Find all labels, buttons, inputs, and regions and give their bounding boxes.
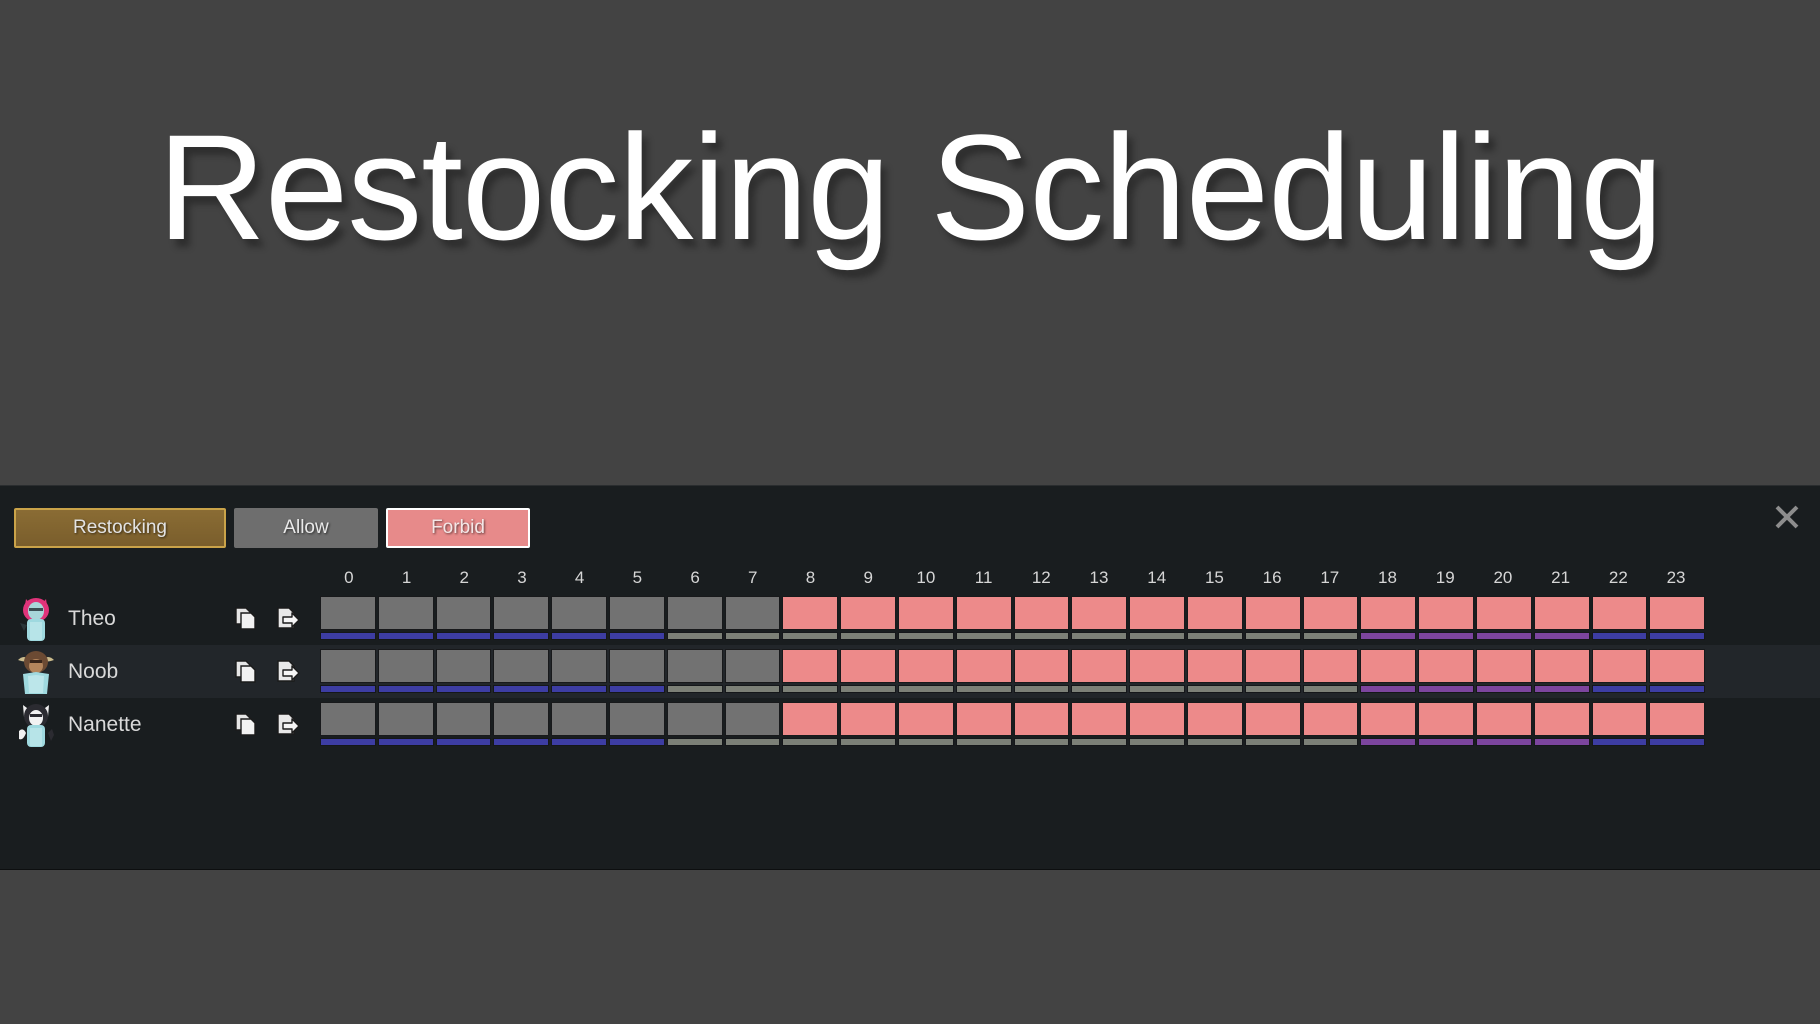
hour-cell-12[interactable]	[1014, 596, 1070, 642]
hour-cell-16[interactable]	[1245, 702, 1301, 748]
restocking-state-forbid[interactable]	[1129, 596, 1185, 630]
hour-cell-8[interactable]	[782, 649, 838, 695]
hour-label-1: 1	[378, 564, 436, 592]
assignment-bar-work	[667, 685, 723, 693]
mode-button-allow-label: Allow	[283, 517, 328, 539]
hour-cell-13[interactable]	[1071, 702, 1127, 748]
hour-label-19: 19	[1416, 564, 1474, 592]
hour-label-11: 11	[955, 564, 1013, 592]
assignment-bar-sleep	[551, 632, 607, 640]
hour-strip	[320, 702, 1705, 748]
hour-cell-18[interactable]	[1360, 596, 1416, 642]
assignment-bar-sleep	[551, 685, 607, 693]
assignment-bar-joy	[1360, 685, 1416, 693]
restocking-state-forbid[interactable]	[1534, 702, 1590, 736]
assignment-bar-joy	[1418, 632, 1474, 640]
restocking-state-forbid[interactable]	[1071, 702, 1127, 736]
restocking-state-allow[interactable]	[378, 649, 434, 683]
mode-button-restocking[interactable]: Restocking	[14, 508, 226, 548]
mode-button-forbid[interactable]: Forbid	[386, 508, 530, 548]
pawn-row[interactable]: Theo	[0, 592, 1820, 645]
assignment-bar-sleep	[551, 738, 607, 746]
hour-cell-0[interactable]	[320, 702, 376, 748]
hour-cell-6[interactable]	[667, 649, 723, 695]
assignment-bar-joy	[1476, 632, 1532, 640]
hour-cell-2[interactable]	[436, 649, 492, 695]
hour-cell-4[interactable]	[551, 649, 607, 695]
hour-cell-12[interactable]	[1014, 649, 1070, 695]
restocking-state-forbid[interactable]	[1071, 649, 1127, 683]
assignment-bar-work	[1245, 632, 1301, 640]
assignment-bar-sleep	[436, 632, 492, 640]
restocking-state-allow[interactable]	[493, 596, 549, 630]
assignment-bar-sleep	[1649, 738, 1705, 746]
restocking-state-allow[interactable]	[320, 596, 376, 630]
pawn-name[interactable]: Nanette	[68, 698, 142, 751]
page-title: Restocking Scheduling	[158, 112, 1663, 262]
hour-cell-20[interactable]	[1476, 649, 1532, 695]
restocking-state-forbid[interactable]	[1129, 649, 1185, 683]
hour-cell-10[interactable]	[898, 702, 954, 748]
assignment-bar-joy	[1476, 685, 1532, 693]
hour-cell-4[interactable]	[551, 702, 607, 748]
hour-cell-1[interactable]	[378, 596, 434, 642]
hour-cell-15[interactable]	[1187, 702, 1243, 748]
assignment-bar-joy	[1534, 738, 1590, 746]
restocking-state-forbid[interactable]	[1476, 649, 1532, 683]
hour-cell-14[interactable]	[1129, 596, 1185, 642]
assignment-bar-sleep	[609, 738, 665, 746]
hour-cell-17[interactable]	[1303, 649, 1359, 695]
hour-cell-11[interactable]	[956, 649, 1012, 695]
hour-cell-3[interactable]	[493, 702, 549, 748]
assignment-bar-work	[1014, 685, 1070, 693]
assignment-bar-work	[1303, 738, 1359, 746]
assignment-bar-work	[667, 632, 723, 640]
hour-cell-5[interactable]	[609, 649, 665, 695]
hour-strip	[320, 596, 1705, 642]
restocking-state-allow[interactable]	[725, 649, 781, 683]
paste-icon[interactable]	[275, 712, 301, 738]
hour-cell-12[interactable]	[1014, 702, 1070, 748]
restocking-state-forbid[interactable]	[840, 702, 896, 736]
assignment-bar-work	[1014, 738, 1070, 746]
restocking-state-allow[interactable]	[725, 596, 781, 630]
assignment-bar-sleep	[609, 685, 665, 693]
restocking-state-forbid[interactable]	[1360, 702, 1416, 736]
hour-cell-19[interactable]	[1418, 596, 1474, 642]
restocking-state-allow[interactable]	[551, 596, 607, 630]
restocking-state-forbid[interactable]	[1014, 649, 1070, 683]
assignment-bar-sleep	[493, 685, 549, 693]
hour-label-7: 7	[724, 564, 782, 592]
hour-cell-21[interactable]	[1534, 596, 1590, 642]
hour-cell-9[interactable]	[840, 649, 896, 695]
hour-label-13: 13	[1070, 564, 1128, 592]
restocking-state-forbid[interactable]	[1649, 596, 1705, 630]
assignment-bar-work	[1245, 685, 1301, 693]
assignment-bar-work	[725, 738, 781, 746]
hour-label-4: 4	[551, 564, 609, 592]
restocking-state-forbid[interactable]	[1592, 649, 1648, 683]
hour-cell-14[interactable]	[1129, 649, 1185, 695]
assignment-bar-work	[1071, 632, 1127, 640]
restocking-state-forbid[interactable]	[782, 596, 838, 630]
hour-cell-22[interactable]	[1592, 702, 1648, 748]
hour-header-row: 01234567891011121314151617181920212223	[320, 564, 1705, 592]
hour-cell-3[interactable]	[493, 596, 549, 642]
restocking-state-forbid[interactable]	[1534, 596, 1590, 630]
hour-cell-2[interactable]	[436, 702, 492, 748]
assignment-bar-work	[1129, 632, 1185, 640]
assignment-bar-work	[840, 632, 896, 640]
title-banner: Restocking Scheduling	[0, 0, 1820, 485]
restocking-state-forbid[interactable]	[1129, 702, 1185, 736]
restocking-state-forbid[interactable]	[1534, 649, 1590, 683]
paste-icon[interactable]	[275, 659, 301, 685]
mode-button-restocking-label: Restocking	[73, 517, 167, 539]
hour-cell-7[interactable]	[725, 596, 781, 642]
schedule-grid: 01234567891011121314151617181920212223 T…	[0, 564, 1820, 751]
hour-label-14: 14	[1128, 564, 1186, 592]
assignment-bar-sleep	[1592, 685, 1648, 693]
restocking-state-forbid[interactable]	[898, 649, 954, 683]
restocking-state-forbid[interactable]	[898, 596, 954, 630]
assignment-bar-sleep	[436, 685, 492, 693]
hour-cell-1[interactable]	[378, 702, 434, 748]
hour-cell-2[interactable]	[436, 596, 492, 642]
hour-cell-5[interactable]	[609, 702, 665, 748]
hour-cell-19[interactable]	[1418, 649, 1474, 695]
hour-cell-20[interactable]	[1476, 702, 1532, 748]
hour-cell-22[interactable]	[1592, 596, 1648, 642]
paste-icon[interactable]	[275, 606, 301, 632]
hour-label-2: 2	[435, 564, 493, 592]
restocking-state-allow[interactable]	[320, 702, 376, 736]
pawn-row[interactable]: Nanette	[0, 698, 1820, 751]
hour-cell-7[interactable]	[725, 649, 781, 695]
restocking-state-forbid[interactable]	[1187, 702, 1243, 736]
assignment-bar-work	[1303, 685, 1359, 693]
restocking-state-allow[interactable]	[551, 702, 607, 736]
restocking-state-allow[interactable]	[436, 596, 492, 630]
assignment-bar-work	[1014, 632, 1070, 640]
restocking-state-forbid[interactable]	[840, 649, 896, 683]
restocking-state-allow[interactable]	[436, 649, 492, 683]
restocking-state-allow[interactable]	[609, 596, 665, 630]
hour-cell-13[interactable]	[1071, 596, 1127, 642]
hour-cell-0[interactable]	[320, 649, 376, 695]
assignment-bar-sleep	[493, 632, 549, 640]
hour-cell-5[interactable]	[609, 596, 665, 642]
pawn-name[interactable]: Noob	[68, 645, 118, 698]
hour-cell-0[interactable]	[320, 596, 376, 642]
hour-label-23: 23	[1647, 564, 1705, 592]
assignment-bar-work	[840, 685, 896, 693]
restocking-state-forbid[interactable]	[1187, 649, 1243, 683]
close-icon[interactable]	[1768, 498, 1806, 536]
restocking-state-forbid[interactable]	[1014, 702, 1070, 736]
pawn-row-list: TheoNoobNanette	[0, 592, 1820, 751]
assignment-bar-work	[840, 738, 896, 746]
hour-label-18: 18	[1359, 564, 1417, 592]
assignment-bar-joy	[1418, 685, 1474, 693]
hour-label-9: 9	[839, 564, 897, 592]
assignment-bar-joy	[1534, 685, 1590, 693]
hour-cell-16[interactable]	[1245, 649, 1301, 695]
nanette-portrait[interactable]	[14, 701, 58, 749]
restocking-state-forbid[interactable]	[1360, 596, 1416, 630]
restocking-state-allow[interactable]	[436, 702, 492, 736]
hour-cell-9[interactable]	[840, 596, 896, 642]
pawn-name[interactable]: Theo	[68, 592, 116, 645]
assignment-bar-work	[1245, 738, 1301, 746]
assignment-bar-work	[725, 685, 781, 693]
hour-cell-14[interactable]	[1129, 702, 1185, 748]
hour-label-5: 5	[609, 564, 667, 592]
hour-label-10: 10	[897, 564, 955, 592]
assignment-bar-work	[1129, 738, 1185, 746]
copy-icon[interactable]	[232, 712, 258, 738]
hour-cell-23[interactable]	[1649, 649, 1705, 695]
assignment-bar-work	[898, 685, 954, 693]
assignment-bar-sleep	[1649, 685, 1705, 693]
hour-label-16: 16	[1243, 564, 1301, 592]
copy-icon[interactable]	[232, 606, 258, 632]
assignment-bar-work	[1187, 632, 1243, 640]
restocking-state-allow[interactable]	[609, 649, 665, 683]
assignment-bar-joy	[1418, 738, 1474, 746]
assignment-bar-work	[956, 632, 1012, 640]
restocking-state-allow[interactable]	[493, 649, 549, 683]
restocking-state-forbid[interactable]	[1014, 596, 1070, 630]
hour-label-20: 20	[1474, 564, 1532, 592]
restocking-state-forbid[interactable]	[1187, 596, 1243, 630]
restocking-state-forbid[interactable]	[1071, 596, 1127, 630]
assignment-bar-work	[1071, 685, 1127, 693]
hour-cell-20[interactable]	[1476, 596, 1532, 642]
assignment-bar-sleep	[1592, 738, 1648, 746]
pawn-row[interactable]: Noob	[0, 645, 1820, 698]
restocking-state-forbid[interactable]	[1303, 596, 1359, 630]
restocking-state-forbid[interactable]	[1245, 596, 1301, 630]
restocking-state-forbid[interactable]	[1592, 702, 1648, 736]
hour-cell-18[interactable]	[1360, 649, 1416, 695]
assignment-bar-work	[782, 632, 838, 640]
assignment-bar-work	[1303, 632, 1359, 640]
hour-cell-8[interactable]	[782, 702, 838, 748]
hour-cell-22[interactable]	[1592, 649, 1648, 695]
hour-cell-13[interactable]	[1071, 649, 1127, 695]
hour-cell-10[interactable]	[898, 649, 954, 695]
restocking-state-allow[interactable]	[378, 596, 434, 630]
restocking-state-forbid[interactable]	[1418, 649, 1474, 683]
restocking-state-allow[interactable]	[609, 702, 665, 736]
restocking-state-forbid[interactable]	[840, 596, 896, 630]
restocking-state-forbid[interactable]	[1418, 702, 1474, 736]
assignment-bar-joy	[1360, 632, 1416, 640]
theo-portrait[interactable]	[14, 595, 58, 643]
assignment-bar-work	[782, 685, 838, 693]
mode-button-bar: Restocking Allow Forbid	[14, 508, 530, 548]
restocking-state-forbid[interactable]	[1303, 649, 1359, 683]
hour-cell-11[interactable]	[956, 596, 1012, 642]
mode-button-forbid-label: Forbid	[431, 517, 485, 539]
hour-cell-17[interactable]	[1303, 596, 1359, 642]
restocking-state-allow[interactable]	[667, 596, 723, 630]
restocking-state-forbid[interactable]	[782, 649, 838, 683]
hour-cell-4[interactable]	[551, 596, 607, 642]
restocking-state-forbid[interactable]	[898, 702, 954, 736]
restocking-state-forbid[interactable]	[1649, 702, 1705, 736]
hour-label-0: 0	[320, 564, 378, 592]
hour-cell-23[interactable]	[1649, 702, 1705, 748]
assignment-bar-work	[725, 632, 781, 640]
restocking-state-forbid[interactable]	[1360, 649, 1416, 683]
assignment-bar-work	[956, 685, 1012, 693]
assignment-bar-sleep	[320, 738, 376, 746]
restocking-state-forbid[interactable]	[1418, 596, 1474, 630]
restocking-state-forbid[interactable]	[1245, 649, 1301, 683]
hour-cell-17[interactable]	[1303, 702, 1359, 748]
assignment-bar-sleep	[609, 632, 665, 640]
restocking-state-allow[interactable]	[667, 702, 723, 736]
assignment-bar-sleep	[378, 738, 434, 746]
restocking-state-allow[interactable]	[493, 702, 549, 736]
restocking-scheduling-panel: Restocking Allow Forbid 0123456789101112…	[0, 485, 1820, 870]
assignment-bar-joy	[1476, 738, 1532, 746]
hour-cell-15[interactable]	[1187, 649, 1243, 695]
hour-cell-9[interactable]	[840, 702, 896, 748]
assignment-bar-sleep	[378, 632, 434, 640]
hour-cell-21[interactable]	[1534, 702, 1590, 748]
assignment-bar-work	[782, 738, 838, 746]
restocking-state-forbid[interactable]	[1592, 596, 1648, 630]
restocking-state-allow[interactable]	[378, 702, 434, 736]
assignment-bar-joy	[1534, 632, 1590, 640]
hour-cell-15[interactable]	[1187, 596, 1243, 642]
assignment-bar-sleep	[436, 738, 492, 746]
assignment-bar-work	[898, 632, 954, 640]
restocking-state-forbid[interactable]	[1476, 596, 1532, 630]
hour-label-21: 21	[1532, 564, 1590, 592]
assignment-bar-sleep	[320, 685, 376, 693]
restocking-state-allow[interactable]	[551, 649, 607, 683]
restocking-state-forbid[interactable]	[1476, 702, 1532, 736]
assignment-bar-work	[667, 738, 723, 746]
hour-cell-21[interactable]	[1534, 649, 1590, 695]
restocking-state-forbid[interactable]	[956, 702, 1012, 736]
assignment-bar-work	[1071, 738, 1127, 746]
hour-cell-18[interactable]	[1360, 702, 1416, 748]
assignment-bar-sleep	[493, 738, 549, 746]
hour-cell-6[interactable]	[667, 596, 723, 642]
hour-label-15: 15	[1186, 564, 1244, 592]
restocking-state-allow[interactable]	[725, 702, 781, 736]
hour-cell-3[interactable]	[493, 649, 549, 695]
hour-label-8: 8	[782, 564, 840, 592]
assignment-bar-work	[1129, 685, 1185, 693]
restocking-state-allow[interactable]	[667, 649, 723, 683]
mode-button-allow[interactable]: Allow	[234, 508, 378, 548]
restocking-state-forbid[interactable]	[1245, 702, 1301, 736]
assignment-bar-joy	[1360, 738, 1416, 746]
restocking-state-forbid[interactable]	[782, 702, 838, 736]
noob-portrait[interactable]	[14, 648, 58, 696]
restocking-state-forbid[interactable]	[1303, 702, 1359, 736]
hour-cell-7[interactable]	[725, 702, 781, 748]
assignment-bar-work	[1187, 738, 1243, 746]
hour-label-6: 6	[666, 564, 724, 592]
hour-cell-8[interactable]	[782, 596, 838, 642]
restocking-state-forbid[interactable]	[956, 596, 1012, 630]
hour-label-22: 22	[1589, 564, 1647, 592]
hour-label-12: 12	[1012, 564, 1070, 592]
assignment-bar-work	[956, 738, 1012, 746]
hour-cell-19[interactable]	[1418, 702, 1474, 748]
assignment-bar-work	[1187, 685, 1243, 693]
restocking-state-allow[interactable]	[320, 649, 376, 683]
restocking-state-forbid[interactable]	[1649, 649, 1705, 683]
assignment-bar-work	[898, 738, 954, 746]
hour-cell-10[interactable]	[898, 596, 954, 642]
hour-label-17: 17	[1301, 564, 1359, 592]
hour-strip	[320, 649, 1705, 695]
hour-cell-11[interactable]	[956, 702, 1012, 748]
hour-label-3: 3	[493, 564, 551, 592]
assignment-bar-sleep	[320, 632, 376, 640]
hour-cell-23[interactable]	[1649, 596, 1705, 642]
restocking-state-forbid[interactable]	[956, 649, 1012, 683]
assignment-bar-sleep	[378, 685, 434, 693]
assignment-bar-sleep	[1592, 632, 1648, 640]
hour-cell-16[interactable]	[1245, 596, 1301, 642]
copy-icon[interactable]	[232, 659, 258, 685]
assignment-bar-sleep	[1649, 632, 1705, 640]
hour-cell-1[interactable]	[378, 649, 434, 695]
hour-cell-6[interactable]	[667, 702, 723, 748]
